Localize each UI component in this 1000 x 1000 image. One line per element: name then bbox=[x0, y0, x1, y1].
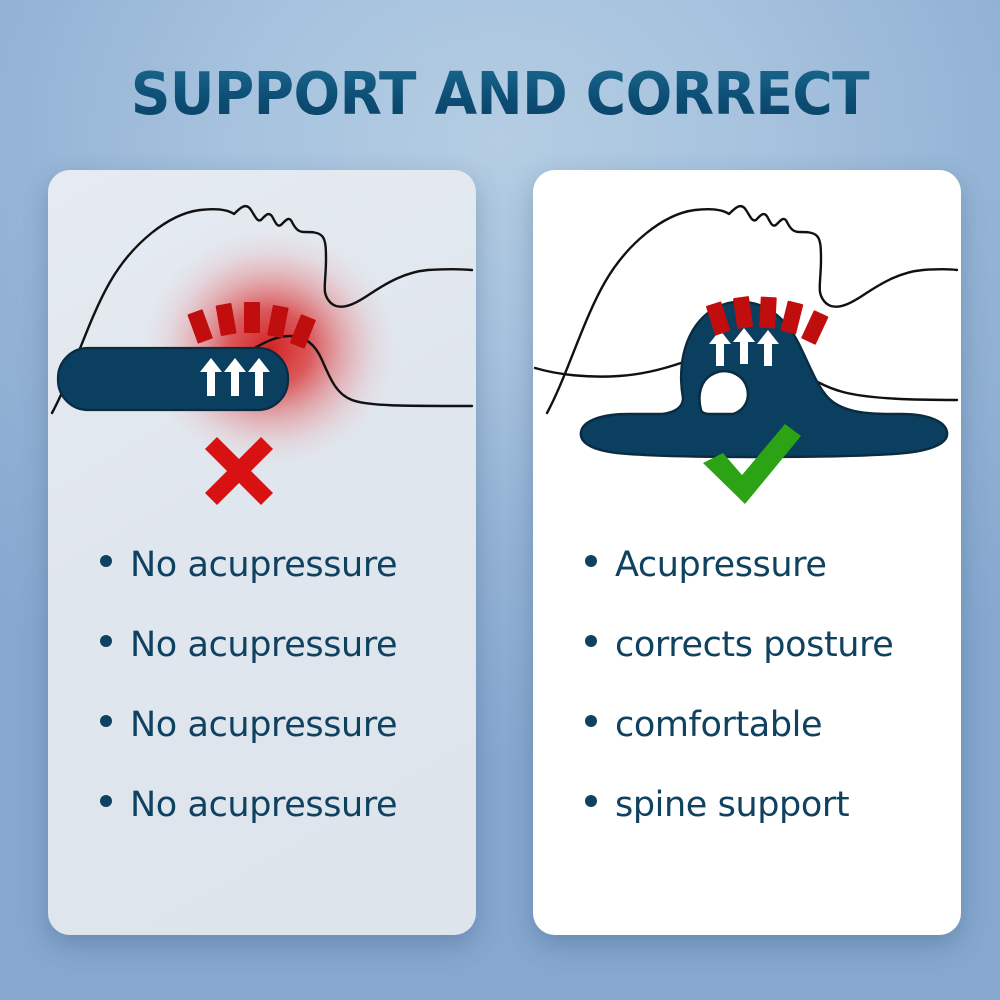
list-item-label: No acupressure bbox=[130, 705, 397, 745]
tick-3 bbox=[759, 297, 777, 329]
illustration-flat-pillow bbox=[48, 170, 476, 530]
page-title: SUPPORT AND CORRECT bbox=[35, 58, 965, 130]
feature-list-correct: Acupressure corrects posture comfortable… bbox=[533, 545, 961, 865]
bullet-dot bbox=[100, 795, 112, 807]
list-item: No acupressure bbox=[100, 625, 454, 705]
list-item: comfortable bbox=[585, 705, 939, 785]
bullet-dot bbox=[585, 795, 597, 807]
tick-4 bbox=[780, 301, 803, 335]
flat-pillow bbox=[58, 348, 288, 410]
tick-3 bbox=[244, 302, 260, 333]
pressure-arrows bbox=[200, 358, 270, 396]
comparison-card-correct: Acupressure corrects posture comfortable… bbox=[533, 170, 961, 935]
list-item-label: No acupressure bbox=[130, 545, 397, 585]
feature-list-incorrect: No acupressure No acupressure No acupres… bbox=[48, 545, 476, 865]
list-item-label: Acupressure bbox=[615, 545, 827, 585]
bullet-dot bbox=[100, 555, 112, 567]
list-item-label: spine support bbox=[615, 785, 849, 825]
list-item: No acupressure bbox=[100, 785, 454, 865]
list-item-label: No acupressure bbox=[130, 785, 397, 825]
list-item: No acupressure bbox=[100, 545, 454, 625]
tick-5 bbox=[801, 310, 829, 345]
illustration-wave-pillow bbox=[533, 170, 961, 530]
bullet-dot bbox=[585, 715, 597, 727]
list-item: corrects posture bbox=[585, 625, 939, 705]
bullet-dot bbox=[100, 635, 112, 647]
bullet-dot bbox=[585, 635, 597, 647]
comparison-card-incorrect: No acupressure No acupressure No acupres… bbox=[48, 170, 476, 935]
infographic-page: SUPPORT AND CORRECT bbox=[0, 0, 1000, 1000]
list-item-label: corrects posture bbox=[615, 625, 893, 665]
list-item-label: comfortable bbox=[615, 705, 822, 745]
bullet-dot bbox=[100, 715, 112, 727]
list-item: No acupressure bbox=[100, 705, 454, 785]
list-item: Acupressure bbox=[585, 545, 939, 625]
list-item-label: No acupressure bbox=[130, 625, 397, 665]
list-item: spine support bbox=[585, 785, 939, 865]
bullet-dot bbox=[585, 555, 597, 567]
